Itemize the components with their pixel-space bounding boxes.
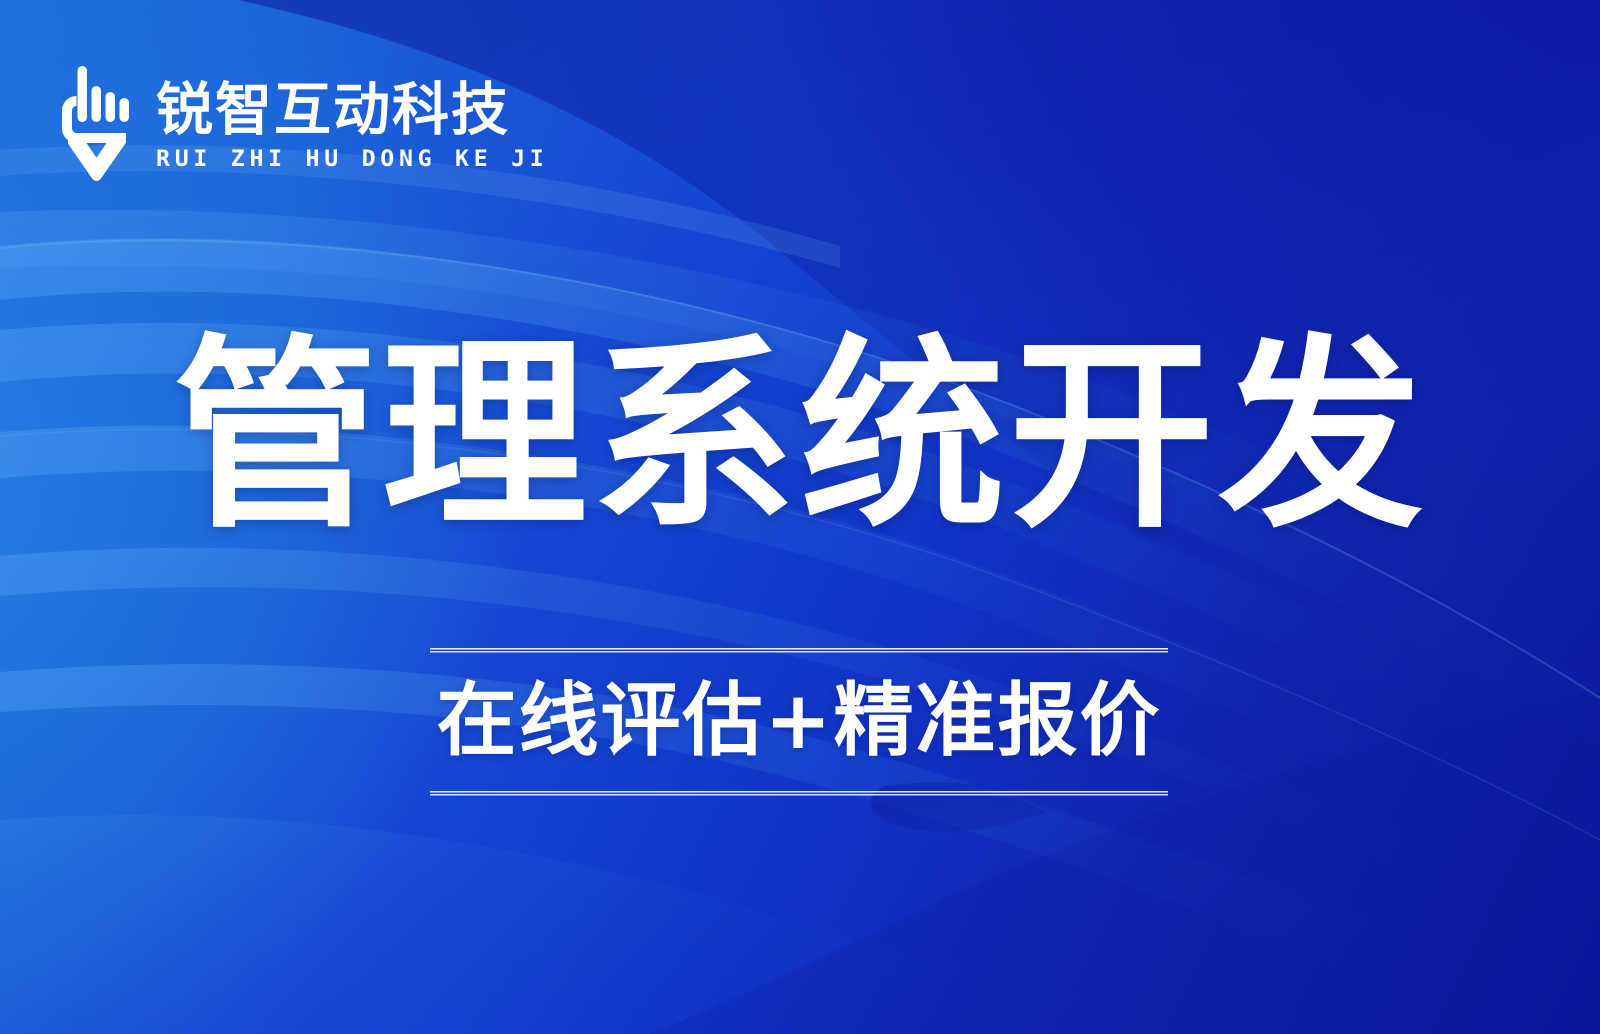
- divider-bottom: [430, 791, 1168, 796]
- brand-name-cn: 锐智互动科技: [156, 81, 537, 139]
- brand-logo-lockup[interactable]: 锐智互动科技 RUI ZHI HU DONG KE JI: [56, 64, 537, 184]
- hero-subtitle: 在线评估+精准报价: [436, 653, 1161, 791]
- hero-title: 管理系统开发: [0, 330, 1600, 545]
- hero-subtitle-block: 在线评估+精准报价: [430, 648, 1168, 796]
- promo-banner: 锐智互动科技 RUI ZHI HU DONG KE JI 管理系统开发 在线评估…: [0, 0, 1600, 1034]
- brand-name-pinyin: RUI ZHI HU DONG KE JI: [156, 148, 549, 171]
- brand-text-group: 锐智互动科技 RUI ZHI HU DONG KE JI: [156, 77, 537, 171]
- hand-click-icon: [56, 64, 138, 184]
